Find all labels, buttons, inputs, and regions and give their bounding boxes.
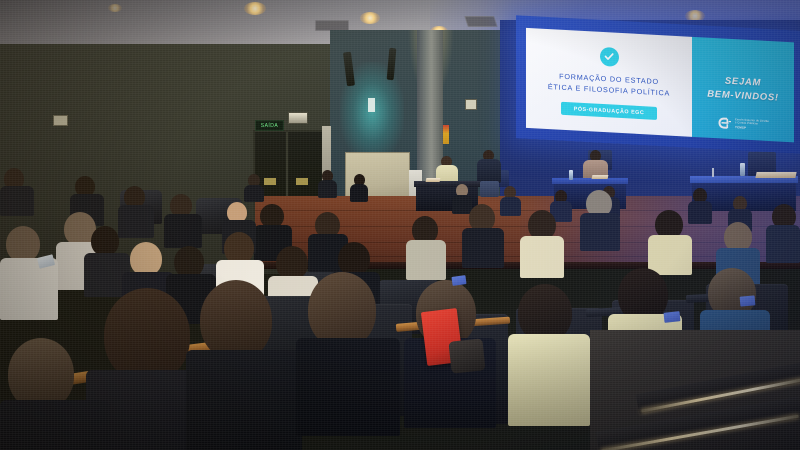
audience-member bbox=[766, 204, 800, 260]
smartphone[interactable] bbox=[740, 295, 756, 306]
slide-program-pill: PÓS-GRADUAÇÃO EGC bbox=[561, 102, 658, 120]
audience-member bbox=[648, 210, 692, 272]
ceiling-air-vent bbox=[464, 16, 498, 27]
logo-acronym: TCMSP bbox=[735, 125, 769, 131]
wall-outlet-plate[interactable] bbox=[465, 99, 477, 110]
wall-sconce-icon bbox=[368, 98, 375, 112]
audience-member bbox=[520, 210, 564, 276]
projection-screen: FORMAÇÃO DO ESTADO ÉTICA E FILOSOFIA POL… bbox=[516, 15, 800, 153]
audience-member bbox=[164, 194, 202, 246]
ceiling-downlight bbox=[108, 4, 122, 12]
audience-member bbox=[244, 174, 264, 200]
slide-logo: Escola Superior de Gestão e Contas Públi… bbox=[717, 116, 769, 132]
welcome-line-2: BEM-VINDOS! bbox=[707, 88, 779, 106]
handbag[interactable] bbox=[448, 338, 485, 373]
audience-member bbox=[0, 226, 58, 318]
smartphone[interactable] bbox=[664, 311, 681, 323]
slide-left-panel: FORMAÇÃO DO ESTADO ÉTICA E FILOSOFIA POL… bbox=[526, 28, 692, 137]
ceiling-downlight bbox=[244, 2, 266, 15]
check-circle-icon bbox=[600, 47, 619, 67]
audience-member bbox=[350, 174, 368, 200]
slide-right-panel: SEJAM BEM-VINDOS! Escola Superior de Ges… bbox=[692, 37, 794, 143]
audience-member bbox=[462, 204, 504, 266]
audience-member bbox=[186, 280, 302, 450]
ceiling-downlight bbox=[360, 12, 380, 24]
egc-logo-icon bbox=[717, 116, 732, 130]
audience-member bbox=[0, 338, 110, 450]
audience-member bbox=[0, 168, 34, 214]
audience-member bbox=[406, 216, 446, 278]
audience-member bbox=[508, 284, 590, 424]
emergency-light-icon bbox=[288, 112, 308, 124]
fire-extinguisher-icon bbox=[443, 125, 449, 144]
audience-member bbox=[318, 170, 337, 196]
auditorium-scene: SAÍDA FORMAÇÃO DO ESTADO ÉTICA E FILOSOF… bbox=[0, 0, 800, 450]
exit-sign-label: SAÍDA bbox=[261, 123, 279, 129]
audience-member bbox=[296, 272, 400, 432]
smartphone[interactable] bbox=[451, 275, 466, 286]
exit-sign: SAÍDA bbox=[255, 120, 284, 131]
audience-member bbox=[580, 190, 620, 248]
slide-content: FORMAÇÃO DO ESTADO ÉTICA E FILOSOFIA POL… bbox=[526, 28, 794, 143]
light-switch-plate[interactable] bbox=[53, 115, 68, 126]
